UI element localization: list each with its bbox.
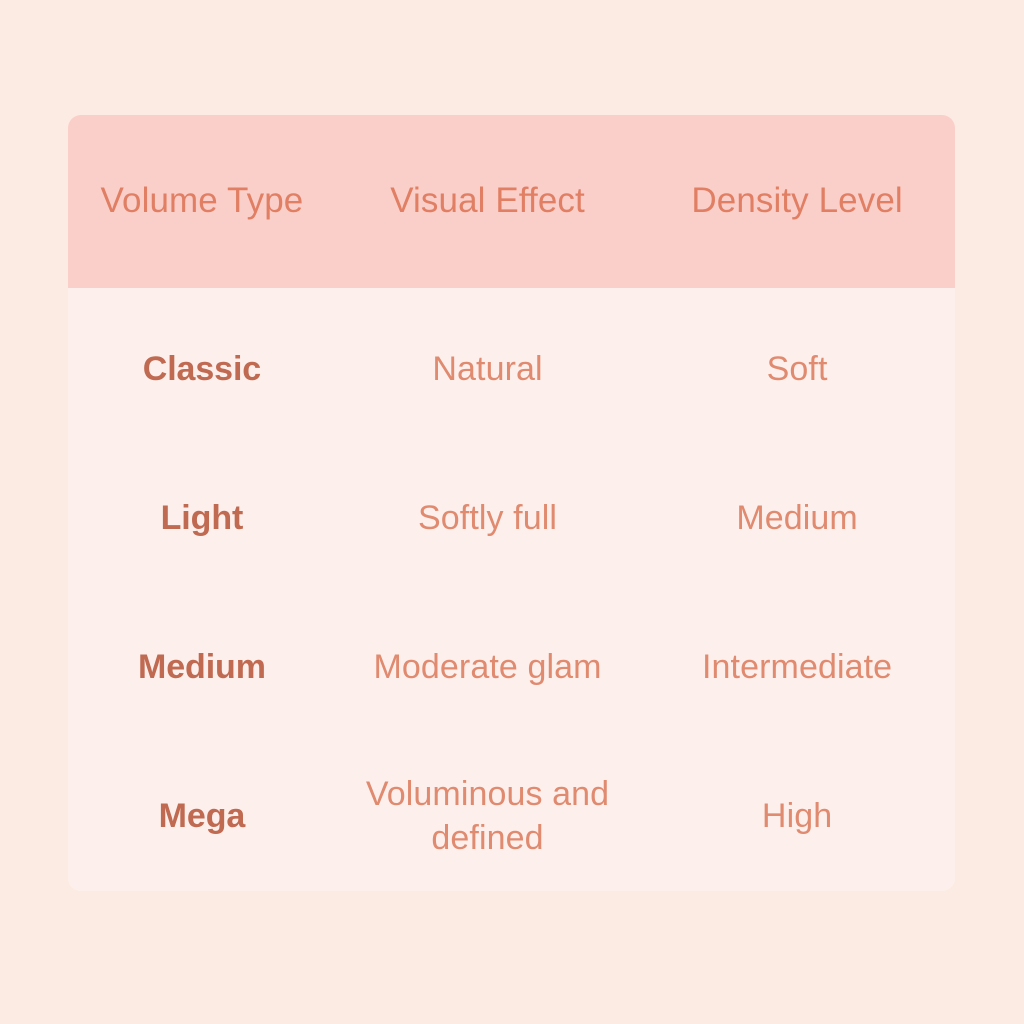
table-row: Classic Natural Soft [68,294,955,443]
comparison-table: Volume Type Visual Effect Density Level … [68,115,955,891]
table-row: Light Softly full Medium [68,443,955,592]
cell-volume-type: Medium [68,645,336,689]
cell-visual-effect: Natural [336,347,639,391]
cell-density-level: Intermediate [639,645,955,689]
column-header-density-level: Density Level [639,179,955,224]
cell-density-level: Soft [639,347,955,391]
cell-visual-effect: Voluminous and defined [336,772,639,860]
table-row: Medium Moderate glam Intermediate [68,593,955,742]
cell-volume-type: Light [68,496,336,540]
cell-density-level: Medium [639,496,955,540]
cell-volume-type: Mega [68,794,336,838]
cell-volume-type: Classic [68,347,336,391]
cell-visual-effect: Softly full [336,496,639,540]
column-header-visual-effect: Visual Effect [336,179,639,224]
table-header-row: Volume Type Visual Effect Density Level [68,115,955,288]
table-body: Classic Natural Soft Light Softly full M… [68,288,955,891]
cell-visual-effect: Moderate glam [336,645,639,689]
table-row: Mega Voluminous and defined High [68,742,955,891]
column-header-volume-type: Volume Type [68,179,336,224]
cell-density-level: High [639,794,955,838]
page-canvas: Volume Type Visual Effect Density Level … [0,0,1024,1024]
